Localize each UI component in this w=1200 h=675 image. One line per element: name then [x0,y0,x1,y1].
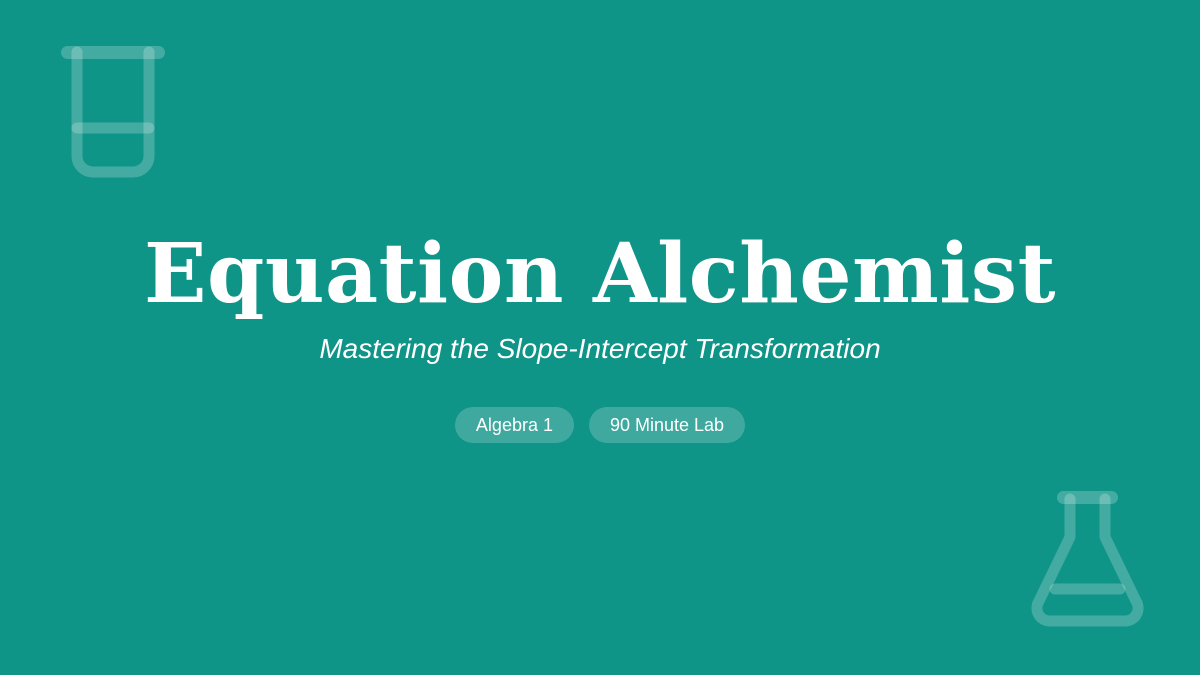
hero-content: Equation Alchemist Mastering the Slope-I… [0,0,1200,675]
badge-group: Algebra 1 90 Minute Lab [455,407,745,443]
page-title: Equation Alchemist [144,232,1056,317]
badge-duration: 90 Minute Lab [589,407,745,443]
badge-course-level: Algebra 1 [455,407,574,443]
page-subtitle: Mastering the Slope-Intercept Transforma… [319,333,880,365]
title-slide: Equation Alchemist Mastering the Slope-I… [0,0,1200,675]
